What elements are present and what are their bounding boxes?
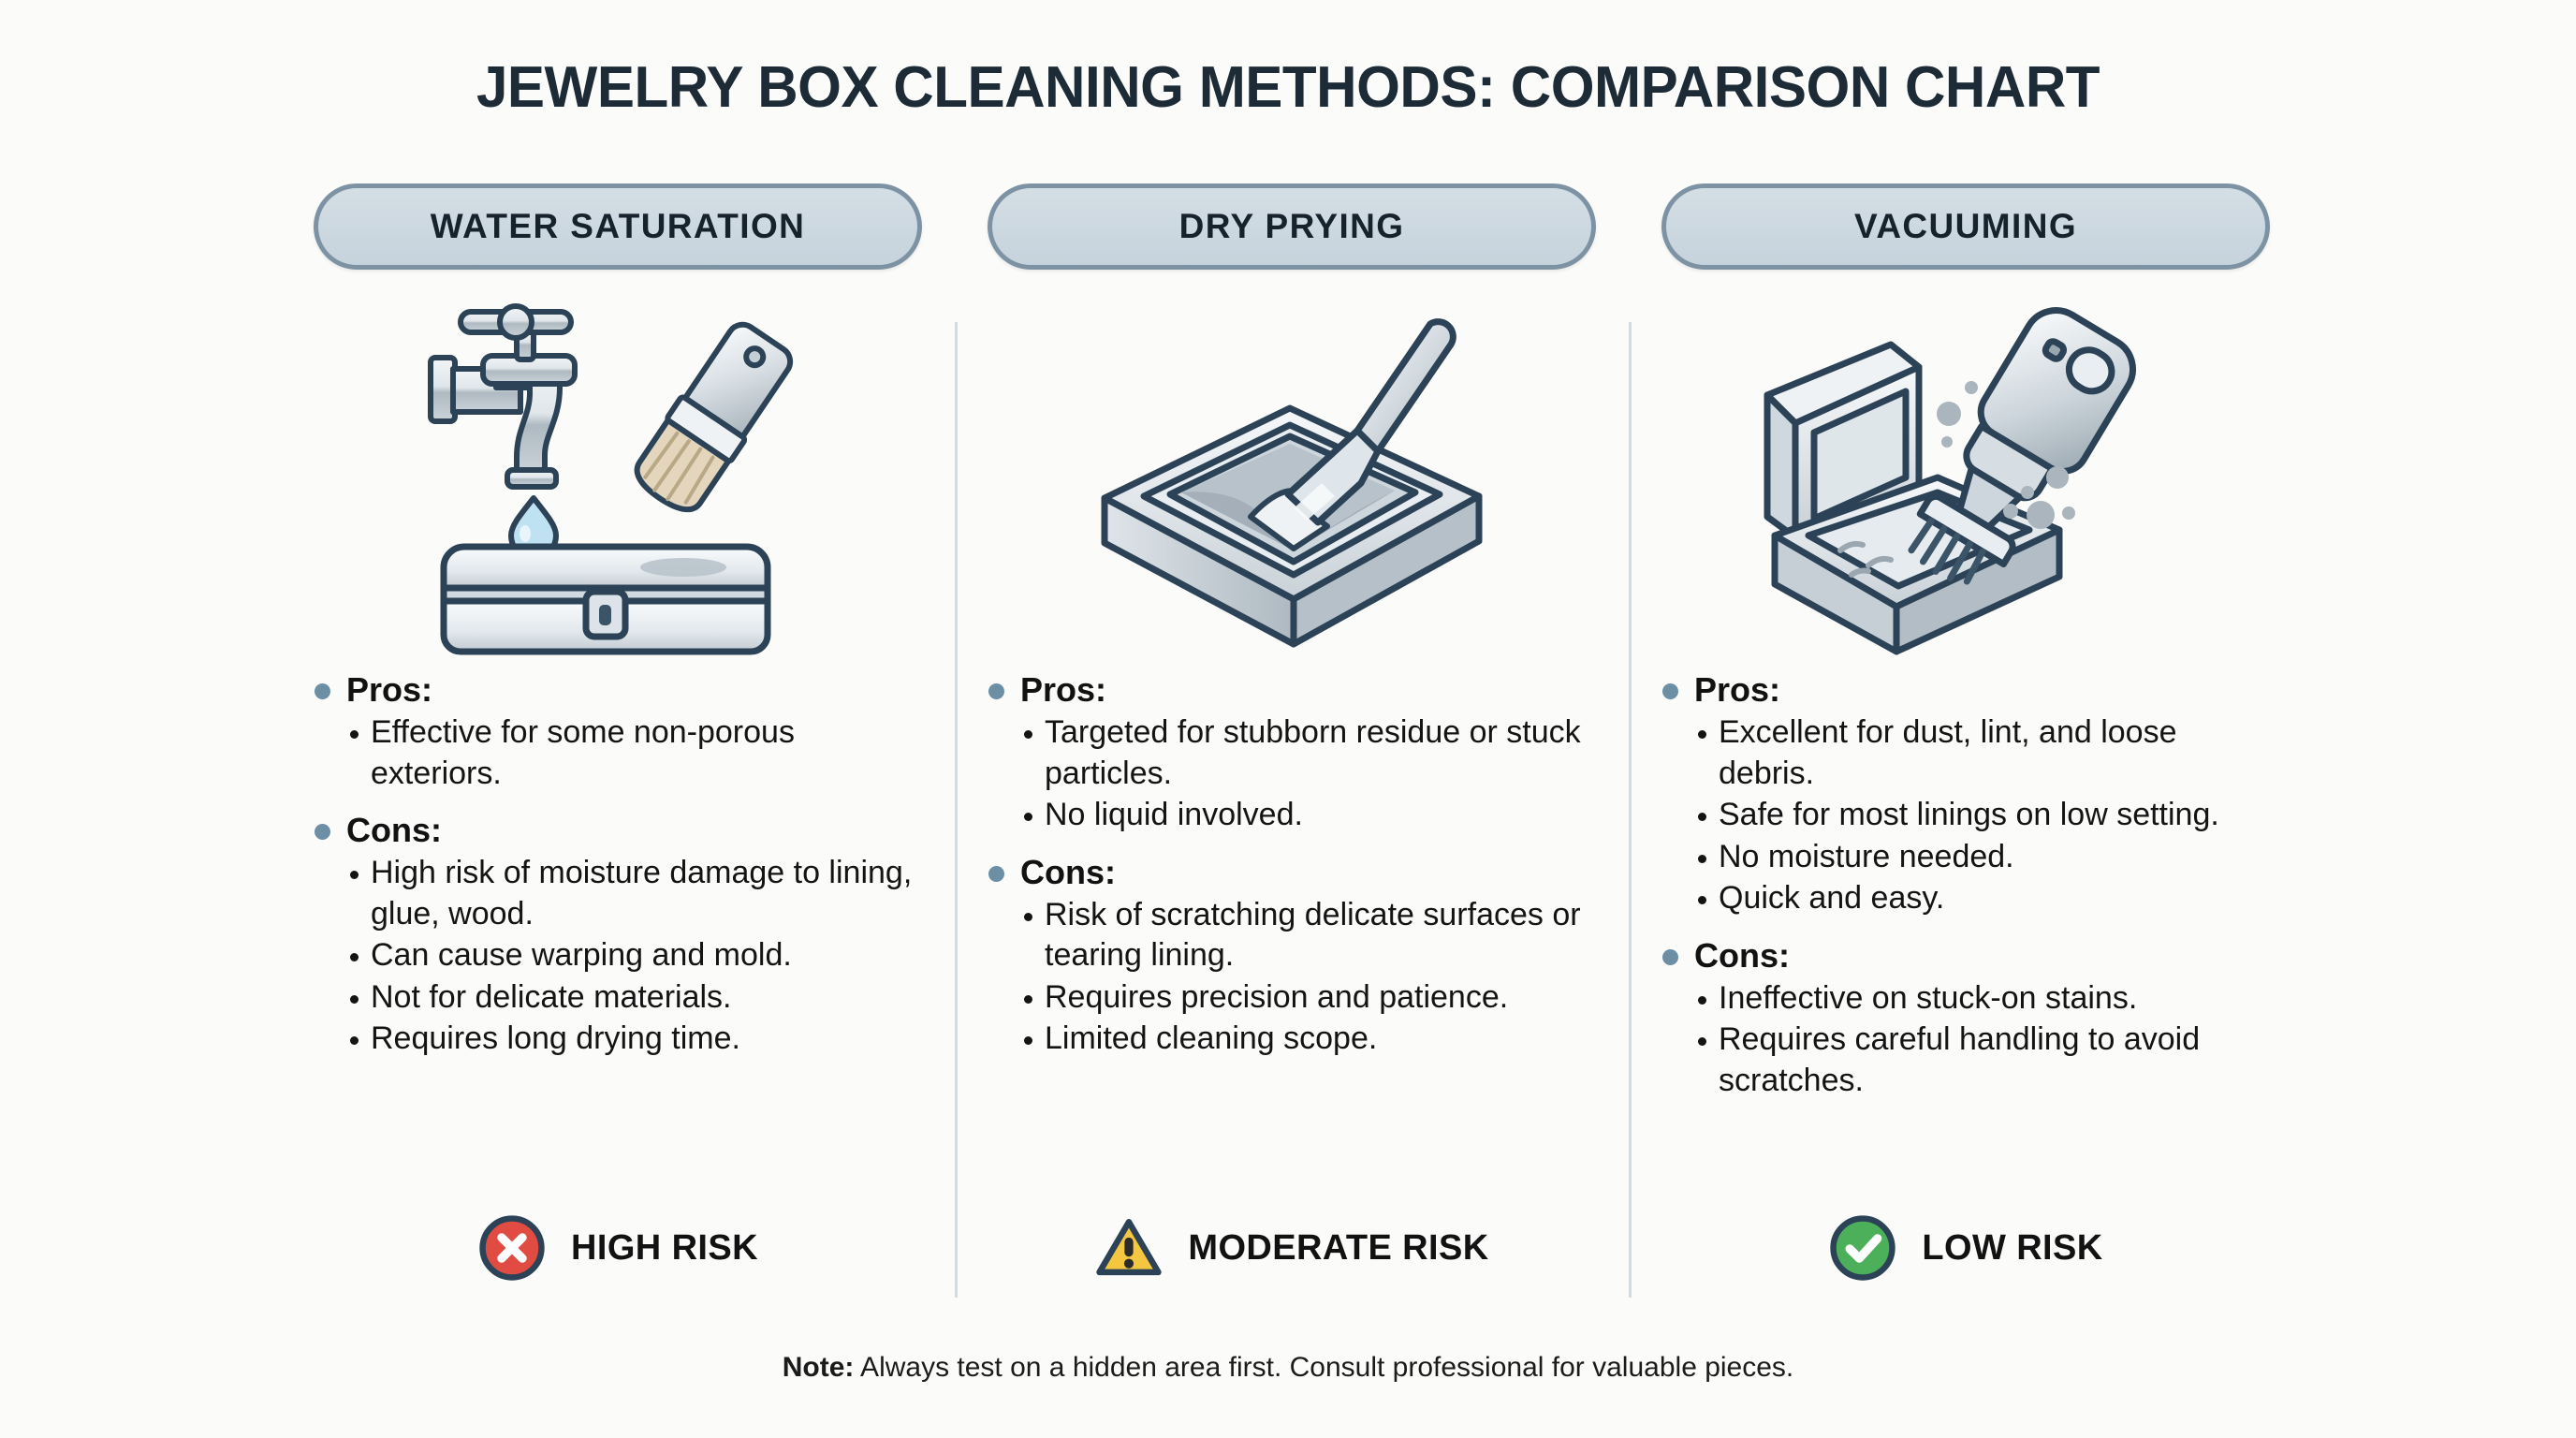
list-item: High risk of moisture damage to lining, … bbox=[350, 853, 932, 934]
sub-bullet-icon bbox=[1698, 996, 1706, 1005]
footer-note: Note: Always test on a hidden area first… bbox=[0, 1352, 2576, 1384]
handheld-vacuum-open-box-icon bbox=[1750, 294, 2181, 659]
list-item: Quick and easy. bbox=[1698, 878, 2280, 919]
list-item: Safe for most linings on low setting. bbox=[1698, 795, 2280, 836]
method-column-dry-prying: DRY PRYING bbox=[955, 183, 1629, 1307]
risk-badge-high: HIGH RISK bbox=[281, 1213, 955, 1283]
method-header-pill-water-saturation[interactable]: WATER SATURATION bbox=[314, 183, 922, 270]
group-title: Pros: bbox=[1694, 668, 1780, 711]
sub-bullet-icon bbox=[1024, 995, 1032, 1004]
list-item: Ineffective on stuck-on stains. bbox=[1698, 978, 2280, 1020]
sub-bullet-icon bbox=[1698, 730, 1706, 739]
bullet-dot-icon bbox=[315, 824, 330, 840]
method-body-dry-prying: Pros: Targeted for stubborn residue or s… bbox=[988, 668, 1606, 1061]
infographic-canvas: JEWELRY BOX CLEANING METHODS: COMPARISON… bbox=[0, 0, 2576, 1438]
pros-group: Pros: Effective for some non-porous exte… bbox=[315, 668, 932, 794]
bullet-dot-icon bbox=[988, 683, 1004, 699]
sub-bullet-icon bbox=[350, 1036, 359, 1045]
risk-label: MODERATE RISK bbox=[1188, 1228, 1488, 1269]
sub-bullet-icon bbox=[1698, 896, 1706, 904]
circle-check-icon bbox=[1828, 1213, 1897, 1283]
sub-bullet-icon bbox=[1024, 913, 1032, 921]
cons-heading: Cons: bbox=[1662, 934, 2280, 976]
sub-bullet-icon bbox=[1698, 813, 1706, 821]
sub-bullet-icon bbox=[350, 995, 359, 1004]
pros-items: Effective for some non-porous exteriors. bbox=[350, 712, 932, 794]
bullet-dot-icon bbox=[1662, 949, 1678, 965]
method-header-label: VACUUMING bbox=[1854, 207, 2077, 246]
list-item: Excellent for dust, lint, and loose debr… bbox=[1698, 712, 2280, 794]
sub-bullet-icon bbox=[1698, 855, 1706, 863]
method-column-water-saturation: WATER SATURATION bbox=[281, 183, 955, 1307]
pros-heading: Pros: bbox=[315, 668, 932, 711]
warning-triangle-icon bbox=[1094, 1213, 1164, 1283]
faucet-brush-jewelry-box-icon bbox=[402, 294, 833, 659]
method-column-vacuuming: VACUUMING bbox=[1629, 183, 2303, 1307]
bullet-dot-icon bbox=[1662, 683, 1678, 699]
comparison-columns: WATER SATURATION bbox=[281, 183, 2303, 1307]
pros-heading: Pros: bbox=[988, 668, 1606, 711]
list-item: Targeted for stubborn residue or stuck p… bbox=[1024, 712, 1606, 794]
list-item: Effective for some non-porous exteriors. bbox=[350, 712, 932, 794]
cons-group: Cons: Ineffective on stuck-on stains. Re… bbox=[1662, 934, 2280, 1102]
sub-bullet-icon bbox=[1024, 813, 1032, 821]
list-item: Risk of scratching delicate surfaces or … bbox=[1024, 895, 1606, 976]
list-item: No liquid involved. bbox=[1024, 795, 1606, 836]
pros-items: Targeted for stubborn residue or stuck p… bbox=[1024, 712, 1606, 836]
group-title: Pros: bbox=[1020, 668, 1106, 711]
cons-heading: Cons: bbox=[988, 851, 1606, 893]
list-item: No moisture needed. bbox=[1698, 837, 2280, 878]
bullet-dot-icon bbox=[315, 683, 330, 699]
method-body-water-saturation: Pros: Effective for some non-porous exte… bbox=[315, 668, 932, 1061]
sub-bullet-icon bbox=[1698, 1037, 1706, 1046]
bullet-dot-icon bbox=[988, 866, 1004, 882]
method-header-label: DRY PRYING bbox=[1179, 207, 1405, 246]
pros-group: Pros: Targeted for stubborn residue or s… bbox=[988, 668, 1606, 836]
risk-badge-moderate: MODERATE RISK bbox=[955, 1213, 1629, 1283]
page-title: JEWELRY BOX CLEANING METHODS: COMPARISON… bbox=[38, 54, 2537, 121]
sub-bullet-icon bbox=[1024, 730, 1032, 739]
risk-badge-low: LOW RISK bbox=[1629, 1213, 2303, 1283]
cons-group: Cons: High risk of moisture damage to li… bbox=[315, 809, 932, 1060]
method-header-pill-dry-prying[interactable]: DRY PRYING bbox=[988, 183, 1596, 270]
risk-label: HIGH RISK bbox=[571, 1228, 758, 1269]
footer-note-label: Note: bbox=[783, 1352, 855, 1383]
list-item: Requires careful handling to avoid scrat… bbox=[1698, 1020, 2280, 1101]
list-item: Requires long drying time. bbox=[350, 1019, 932, 1060]
list-item: Not for delicate materials. bbox=[350, 977, 932, 1019]
pros-heading: Pros: bbox=[1662, 668, 2280, 711]
list-item: Limited cleaning scope. bbox=[1024, 1019, 1606, 1060]
cons-group: Cons: Risk of scratching delicate surfac… bbox=[988, 851, 1606, 1060]
circle-x-icon bbox=[477, 1213, 547, 1283]
tray-spatula-icon bbox=[1076, 294, 1507, 659]
method-header-label: WATER SATURATION bbox=[431, 207, 806, 246]
pros-group: Pros: Excellent for dust, lint, and loos… bbox=[1662, 668, 2280, 919]
cons-heading: Cons: bbox=[315, 809, 932, 851]
method-header-pill-vacuuming[interactable]: VACUUMING bbox=[1661, 183, 2270, 270]
method-body-vacuuming: Pros: Excellent for dust, lint, and loos… bbox=[1662, 668, 2280, 1102]
group-title: Cons: bbox=[1694, 934, 1790, 976]
cons-items: Ineffective on stuck-on stains. Requires… bbox=[1698, 978, 2280, 1102]
sub-bullet-icon bbox=[350, 730, 359, 739]
group-title: Pros: bbox=[346, 668, 432, 711]
list-item: Can cause warping and mold. bbox=[350, 935, 932, 976]
group-title: Cons: bbox=[346, 809, 442, 851]
sub-bullet-icon bbox=[350, 953, 359, 961]
cons-items: Risk of scratching delicate surfaces or … bbox=[1024, 895, 1606, 1060]
sub-bullet-icon bbox=[1024, 1036, 1032, 1045]
risk-label: LOW RISK bbox=[1922, 1228, 2102, 1269]
list-item: Requires precision and patience. bbox=[1024, 977, 1606, 1019]
sub-bullet-icon bbox=[350, 871, 359, 879]
pros-items: Excellent for dust, lint, and loose debr… bbox=[1698, 712, 2280, 919]
cons-items: High risk of moisture damage to lining, … bbox=[350, 853, 932, 1060]
group-title: Cons: bbox=[1020, 851, 1116, 893]
footer-note-text: Always test on a hidden area first. Cons… bbox=[854, 1352, 1793, 1383]
